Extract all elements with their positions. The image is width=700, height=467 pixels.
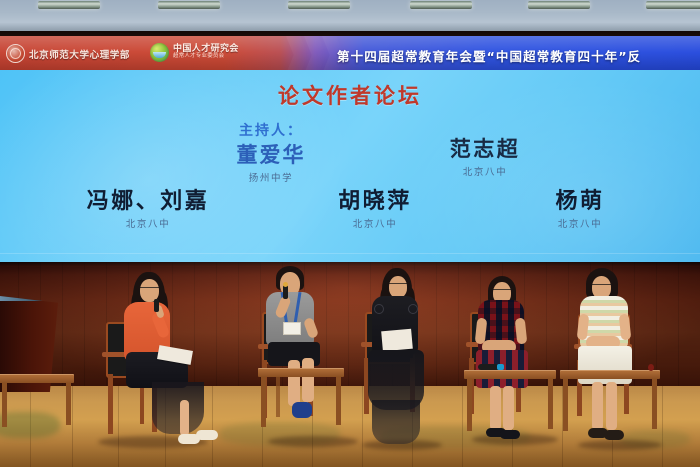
slide-host-block: 主持人： 董爱华 扬州中学 [196, 120, 346, 184]
slide-presenter-block: 范志超 北京八中 [400, 133, 570, 178]
host-name: 董爱华 [196, 139, 346, 169]
host-label: 主持人： [196, 120, 346, 140]
slide-presenter-block: 杨萌 北京八中 [500, 183, 660, 230]
association-subname: 超常人才专业委员会 [173, 54, 239, 60]
auditorium-ceiling [0, 0, 700, 31]
paper-sheet [381, 329, 413, 352]
floor-reflection-patch [0, 412, 60, 438]
bnu-logo-text: 北京师范大学心理学部 [29, 47, 130, 61]
presenter-affiliation: 北京八中 [500, 216, 660, 230]
microphone-icon [154, 299, 159, 312]
host-affiliation: 扬州中学 [196, 170, 346, 184]
slide-presenter-block: 冯娜、刘嘉 北京八中 [48, 183, 248, 230]
microphone-icon [648, 364, 654, 371]
ceiling-light-icon [158, 1, 220, 9]
presenter-name: 杨萌 [500, 183, 660, 215]
banner-title: 第十四届超常教育年会暨“中国超常教育四十年”反 [337, 46, 641, 65]
ceiling-light-icon [38, 1, 100, 9]
slide-title: 论文作者论坛 [0, 80, 700, 110]
panelist-shadow [268, 436, 358, 447]
ceiling-light-icon [528, 1, 590, 9]
screen-edge-line [0, 253, 700, 254]
presenter-name: 冯娜、刘嘉 [48, 183, 248, 215]
presenter-affiliation: 北京八中 [400, 164, 570, 178]
cutout-detail [374, 304, 384, 314]
conference-photo: 北京师范大学心理学部 中国人才研究会 超常人才专业委员会 第十四届超常教育年会暨… [0, 0, 700, 467]
talent-association-logo: 中国人才研究会 超常人才专业委员会 [150, 43, 239, 62]
name-badge [283, 322, 301, 335]
microphone-band [497, 364, 504, 370]
university-seal-icon [6, 44, 25, 63]
projection-screen: 论文作者论坛 主持人： 董爱华 扬州中学 范志超 北京八中 冯娜、刘嘉 北京八中… [0, 70, 700, 266]
presenter-affiliation: 北京八中 [295, 216, 455, 230]
bnu-psychology-logo: 北京师范大学心理学部 [6, 44, 130, 63]
presenter-name: 胡晓萍 [295, 183, 455, 215]
presenter-name: 范志超 [400, 133, 570, 163]
ceiling-light-icon [646, 1, 700, 9]
ceiling-light-icon [410, 1, 472, 9]
ceiling-light-icon [288, 1, 350, 9]
microphone-icon [283, 285, 288, 299]
presenter-affiliation: 北京八中 [48, 216, 248, 230]
association-leaf-icon [150, 43, 169, 62]
panelist-shadow [578, 440, 662, 450]
event-banner: 北京师范大学心理学部 中国人才研究会 超常人才专业委员会 第十四届超常教育年会暨… [0, 36, 700, 72]
cutout-detail [408, 304, 418, 314]
slide-presenter-block: 胡晓萍 北京八中 [295, 183, 455, 230]
